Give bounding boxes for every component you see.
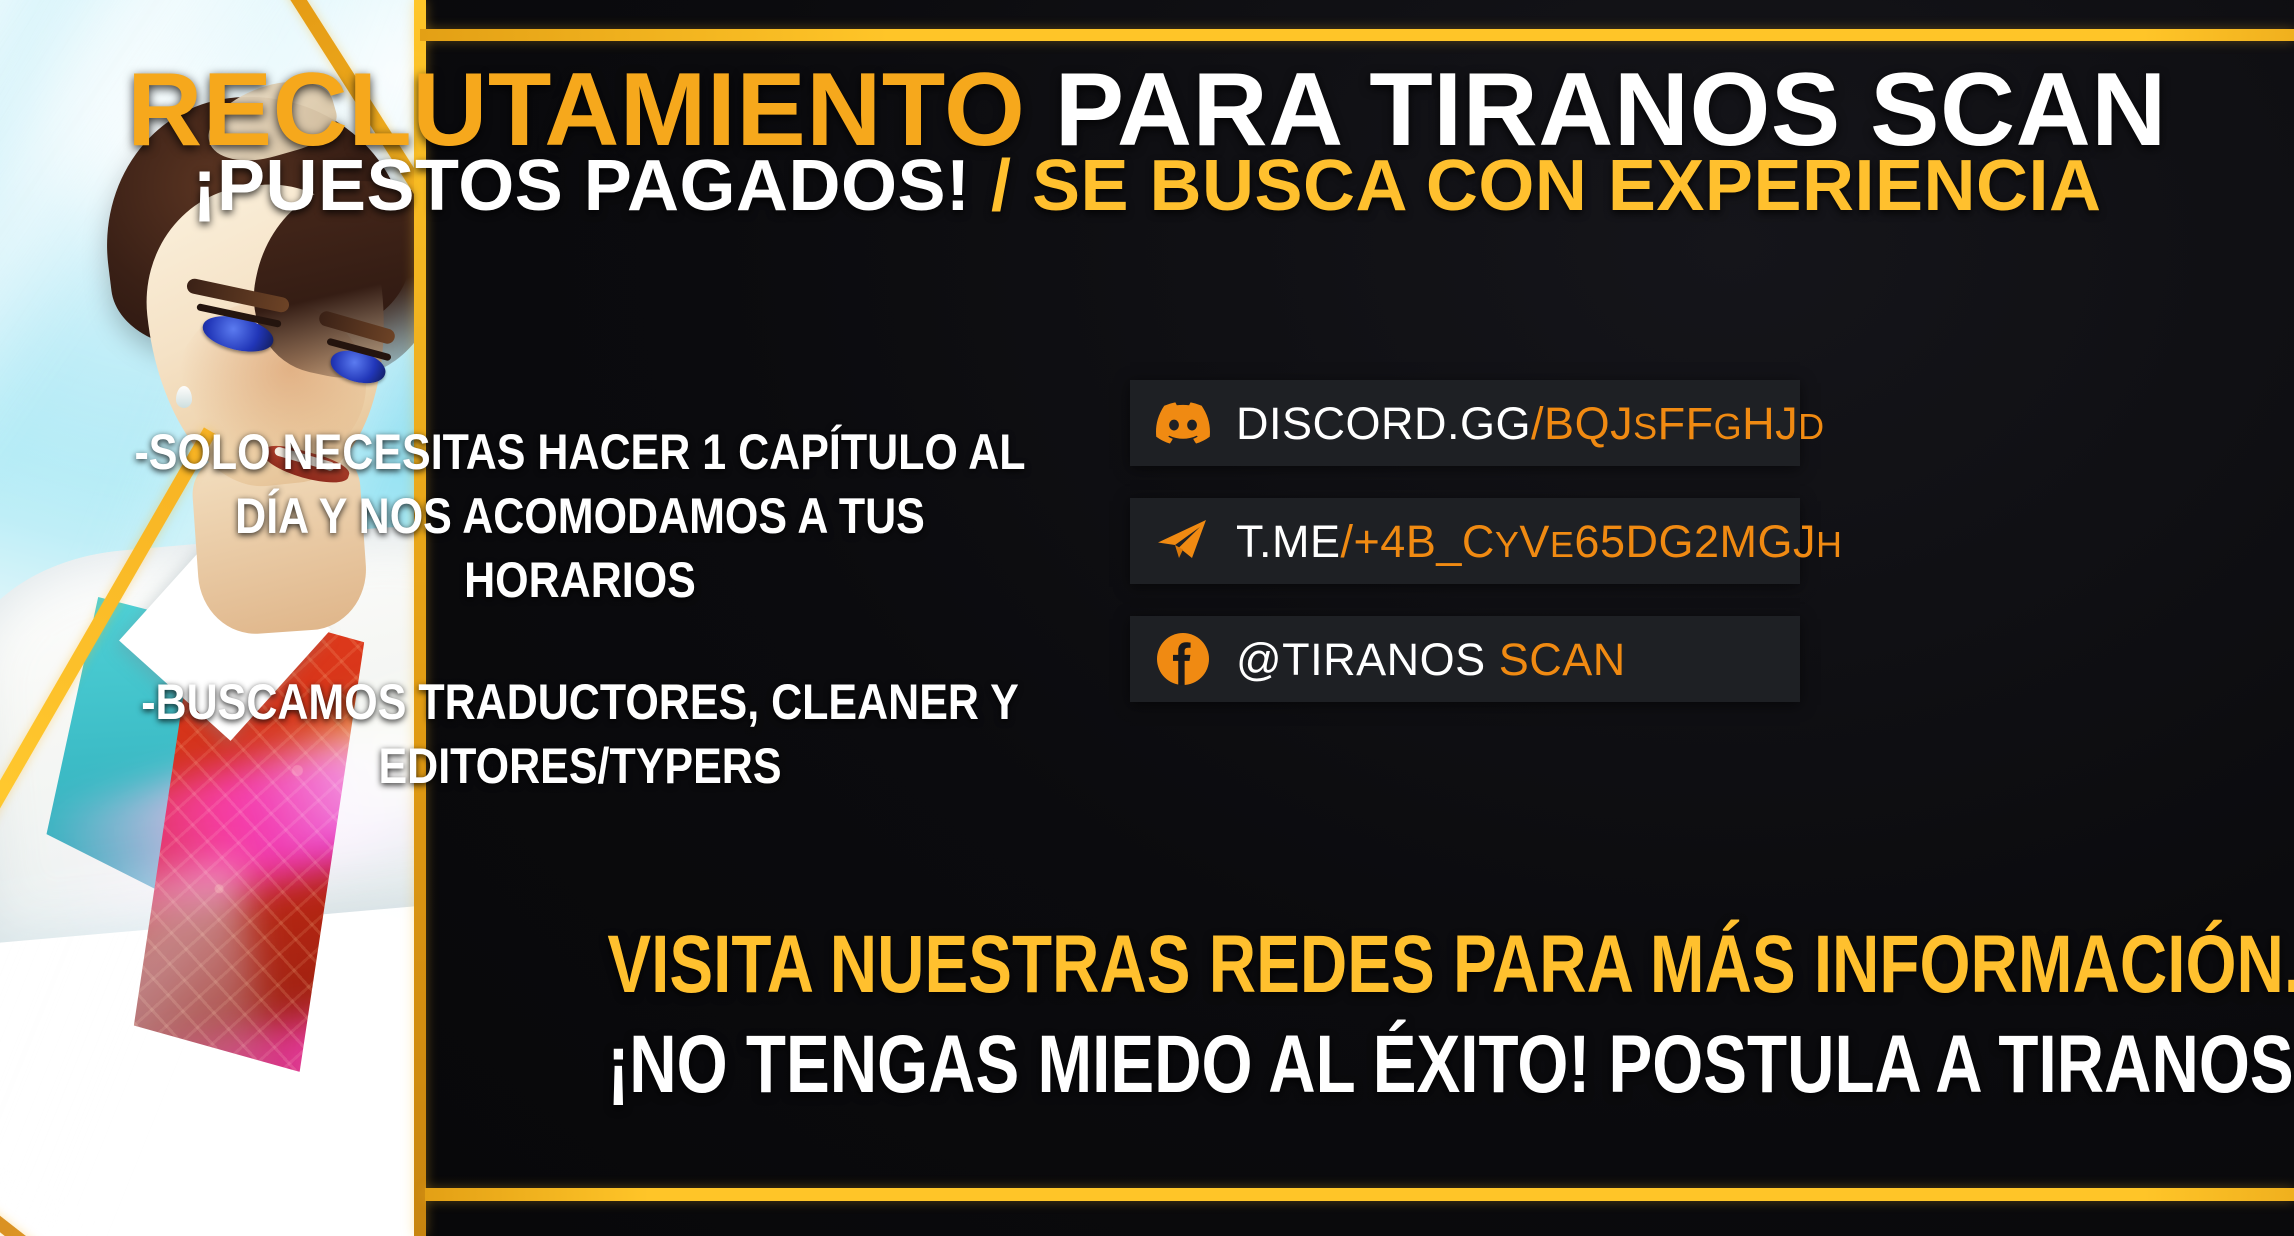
blurb-schedule: -SOLO NECESITAS HACER 1 CAPÍTULO AL DÍA … — [133, 420, 1027, 612]
facebook-handle: @TIRANOS — [1236, 634, 1486, 685]
discord-icon — [1156, 396, 1210, 450]
subheadline: ¡PUESTOS PAGADOS! / SE BUSCA CON EXPERIE… — [0, 150, 2294, 222]
subheadline-paid: ¡PUESTOS PAGADOS! — [193, 146, 971, 226]
contact-card-list: DISCORD.GG/BQJSFFGHJD T.ME/+4B_CYVE65DG2… — [1130, 380, 1800, 734]
blurb-list: -SOLO NECESITAS HACER 1 CAPÍTULO AL DÍA … — [60, 420, 1100, 798]
top-gold-rule — [420, 29, 2294, 41]
contact-card-facebook[interactable]: @TIRANOS SCAN — [1130, 616, 1800, 702]
facebook-page-text: @TIRANOS SCAN — [1236, 637, 1626, 682]
telegram-icon — [1156, 514, 1210, 568]
cta-line-apply: ¡NO TENGAS MIEDO AL ÉXITO! POSTULA A TIR… — [607, 1015, 2106, 1115]
contact-card-telegram[interactable]: T.ME/+4B_CYVE65DG2MGJH — [1130, 498, 1800, 584]
blurb-roles: -BUSCAMOS TRADUCTORES, CLEANER Y EDITORE… — [133, 670, 1027, 798]
call-to-action: VISITA NUESTRAS REDES PARA MÁS INFORMACI… — [420, 915, 2294, 1115]
subheadline-experience: / SE BUSCA CON EXPERIENCIA — [991, 146, 2102, 226]
recruitment-banner: RECLUTAMIENTO PARA TIRANOS SCAN ¡PUESTOS… — [0, 0, 2294, 1236]
telegram-domain: T.ME — [1236, 516, 1341, 567]
contact-card-discord[interactable]: DISCORD.GG/BQJSFFGHJD — [1130, 380, 1800, 466]
discord-domain: DISCORD.GG — [1236, 398, 1531, 449]
discord-invite-code: /BQJSFFGHJD — [1531, 398, 1825, 449]
facebook-icon — [1156, 632, 1210, 686]
cta-line-visit: VISITA NUESTRAS REDES PARA MÁS INFORMACI… — [607, 915, 2106, 1015]
character-sweat-drop — [176, 386, 192, 408]
bottom-gold-rule — [425, 1188, 2294, 1201]
telegram-invite-code: /+4B_CYVE65DG2MGJH — [1341, 516, 1843, 567]
facebook-handle-suffix: SCAN — [1486, 634, 1626, 685]
discord-link-text: DISCORD.GG/BQJSFFGHJD — [1236, 401, 1825, 446]
telegram-link-text: T.ME/+4B_CYVE65DG2MGJH — [1236, 519, 1843, 564]
